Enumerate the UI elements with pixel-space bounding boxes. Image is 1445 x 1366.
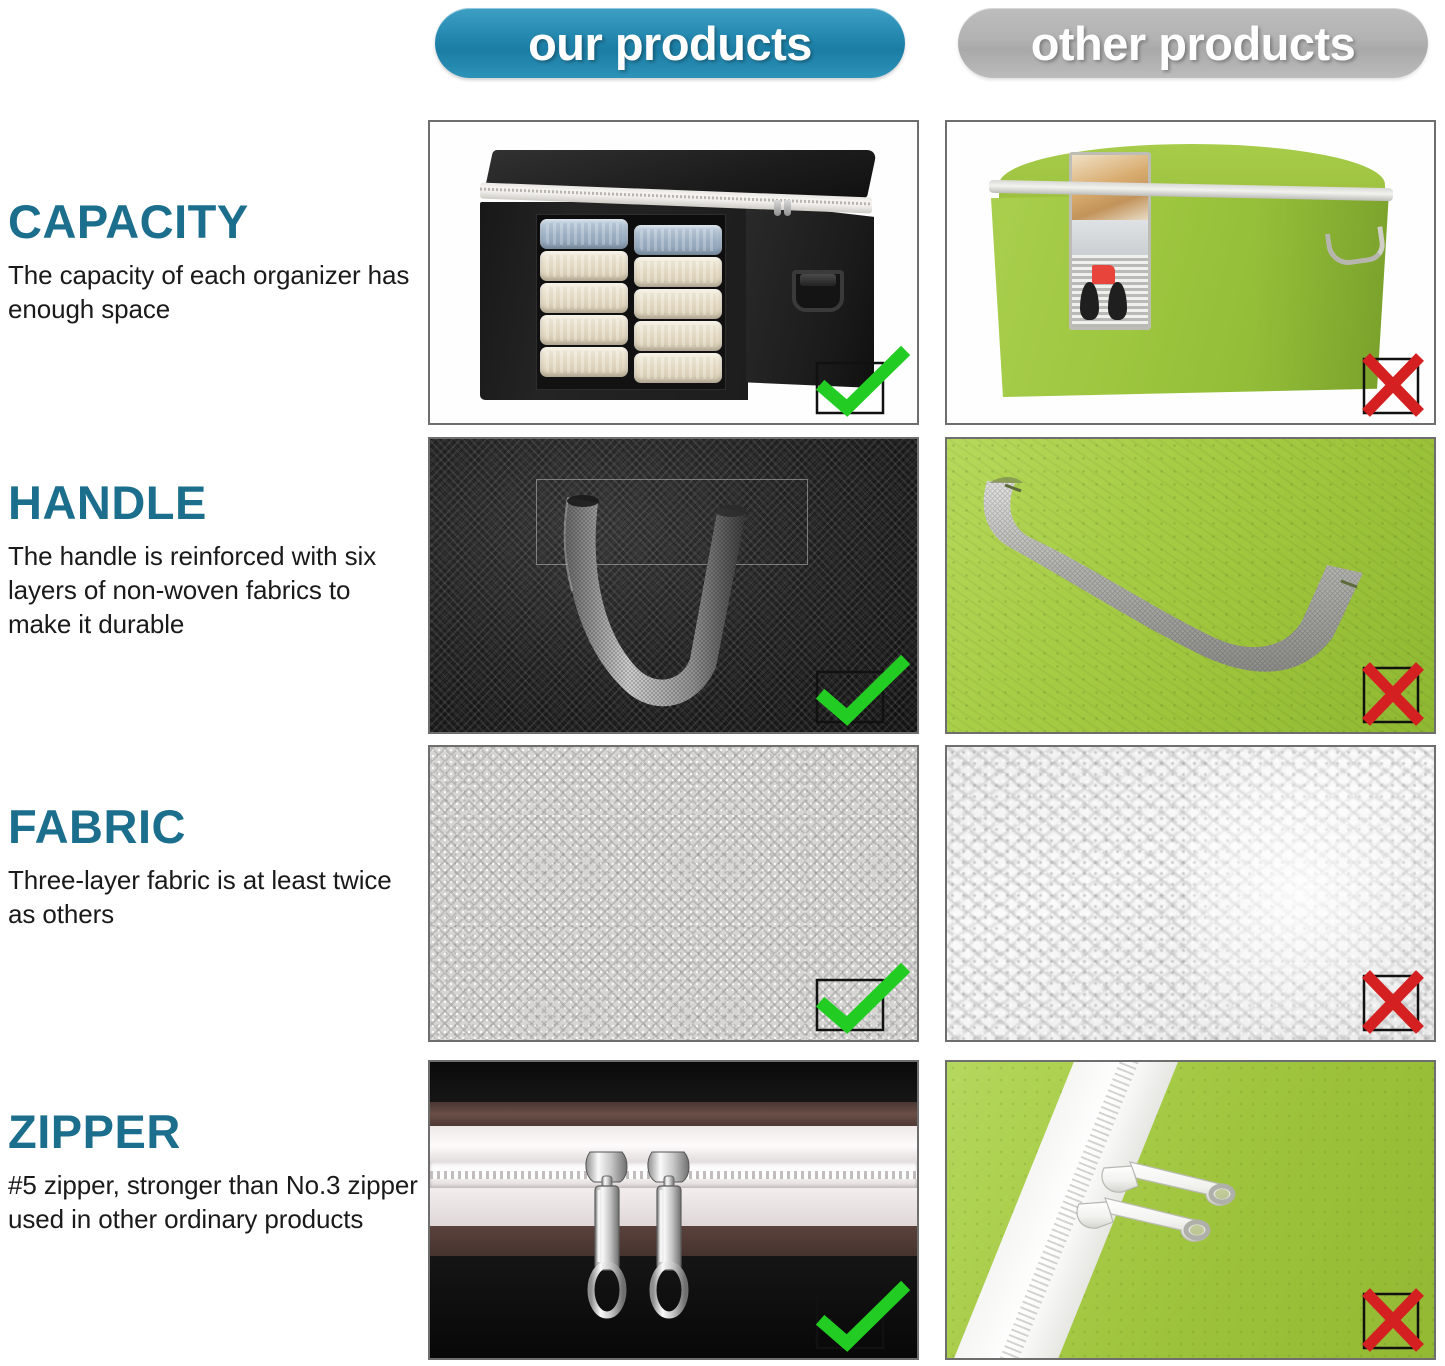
feature-description-handle: The handle is reinforced with six layers… xyxy=(8,540,420,641)
other-product-photo-zipper xyxy=(945,1060,1436,1360)
feature-text-fabric: FABRIC Three-layer fabric is at least tw… xyxy=(8,803,420,932)
feature-row-zipper: ZIPPER #5 zipper, stronger than No.3 zip… xyxy=(0,1060,1445,1360)
cross-badge xyxy=(1362,970,1424,1032)
bag-handle xyxy=(792,270,844,312)
our-product-photo-handle xyxy=(428,437,919,734)
feature-title-handle: HANDLE xyxy=(8,479,420,526)
feature-row-handle: HANDLE The handle is reinforced with six… xyxy=(0,437,1445,737)
feature-description-capacity: The capacity of each organizer has enoug… xyxy=(8,259,420,327)
other-products-label: other products xyxy=(1031,16,1356,71)
reinforced-handle-strap xyxy=(550,491,770,721)
comparison-infographic: our products other products CAPACITY The… xyxy=(0,0,1445,1366)
our-product-photo-zipper xyxy=(428,1060,919,1360)
our-product-photo-fabric xyxy=(428,745,919,1042)
check-badge xyxy=(815,1288,907,1350)
our-products-pill: our products xyxy=(435,8,905,78)
other-product-photo-fabric xyxy=(945,745,1436,1042)
other-product-photo-capacity xyxy=(945,120,1436,425)
cross-badge xyxy=(1362,662,1424,724)
metal-zipper-pull-icon xyxy=(582,1150,632,1322)
feature-row-capacity: CAPACITY The capacity of each organizer … xyxy=(0,120,1445,430)
check-badge xyxy=(815,970,907,1032)
clear-window xyxy=(1069,152,1151,330)
green-storage-bag-illustration xyxy=(981,144,1401,409)
zipper-pull-icon xyxy=(774,200,794,218)
other-products-pill: other products xyxy=(958,8,1428,78)
plastic-zipper-pull-icon xyxy=(1077,1182,1237,1252)
cross-badge xyxy=(1362,1288,1424,1350)
clear-window xyxy=(536,214,726,390)
feature-text-capacity: CAPACITY The capacity of each organizer … xyxy=(8,198,420,327)
cross-badge xyxy=(1362,353,1424,415)
feature-description-fabric: Three-layer fabric is at least twice as … xyxy=(8,864,420,932)
feature-text-handle: HANDLE The handle is reinforced with six… xyxy=(8,479,420,641)
feature-row-fabric: FABRIC Three-layer fabric is at least tw… xyxy=(0,745,1445,1045)
check-badge xyxy=(815,353,907,415)
header-row: our products other products xyxy=(0,0,1445,90)
check-badge xyxy=(815,662,907,724)
our-product-photo-capacity xyxy=(428,120,919,425)
feature-text-zipper: ZIPPER #5 zipper, stronger than No.3 zip… xyxy=(8,1108,420,1237)
thin-handle-strap xyxy=(975,461,1405,711)
other-product-photo-handle xyxy=(945,437,1436,734)
feature-description-zipper: #5 zipper, stronger than No.3 zipper use… xyxy=(8,1169,420,1237)
our-products-label: our products xyxy=(528,16,812,71)
feature-title-capacity: CAPACITY xyxy=(8,198,420,245)
metal-zipper-pull-icon xyxy=(644,1150,694,1322)
feature-title-fabric: FABRIC xyxy=(8,803,420,850)
feature-title-zipper: ZIPPER xyxy=(8,1108,420,1155)
